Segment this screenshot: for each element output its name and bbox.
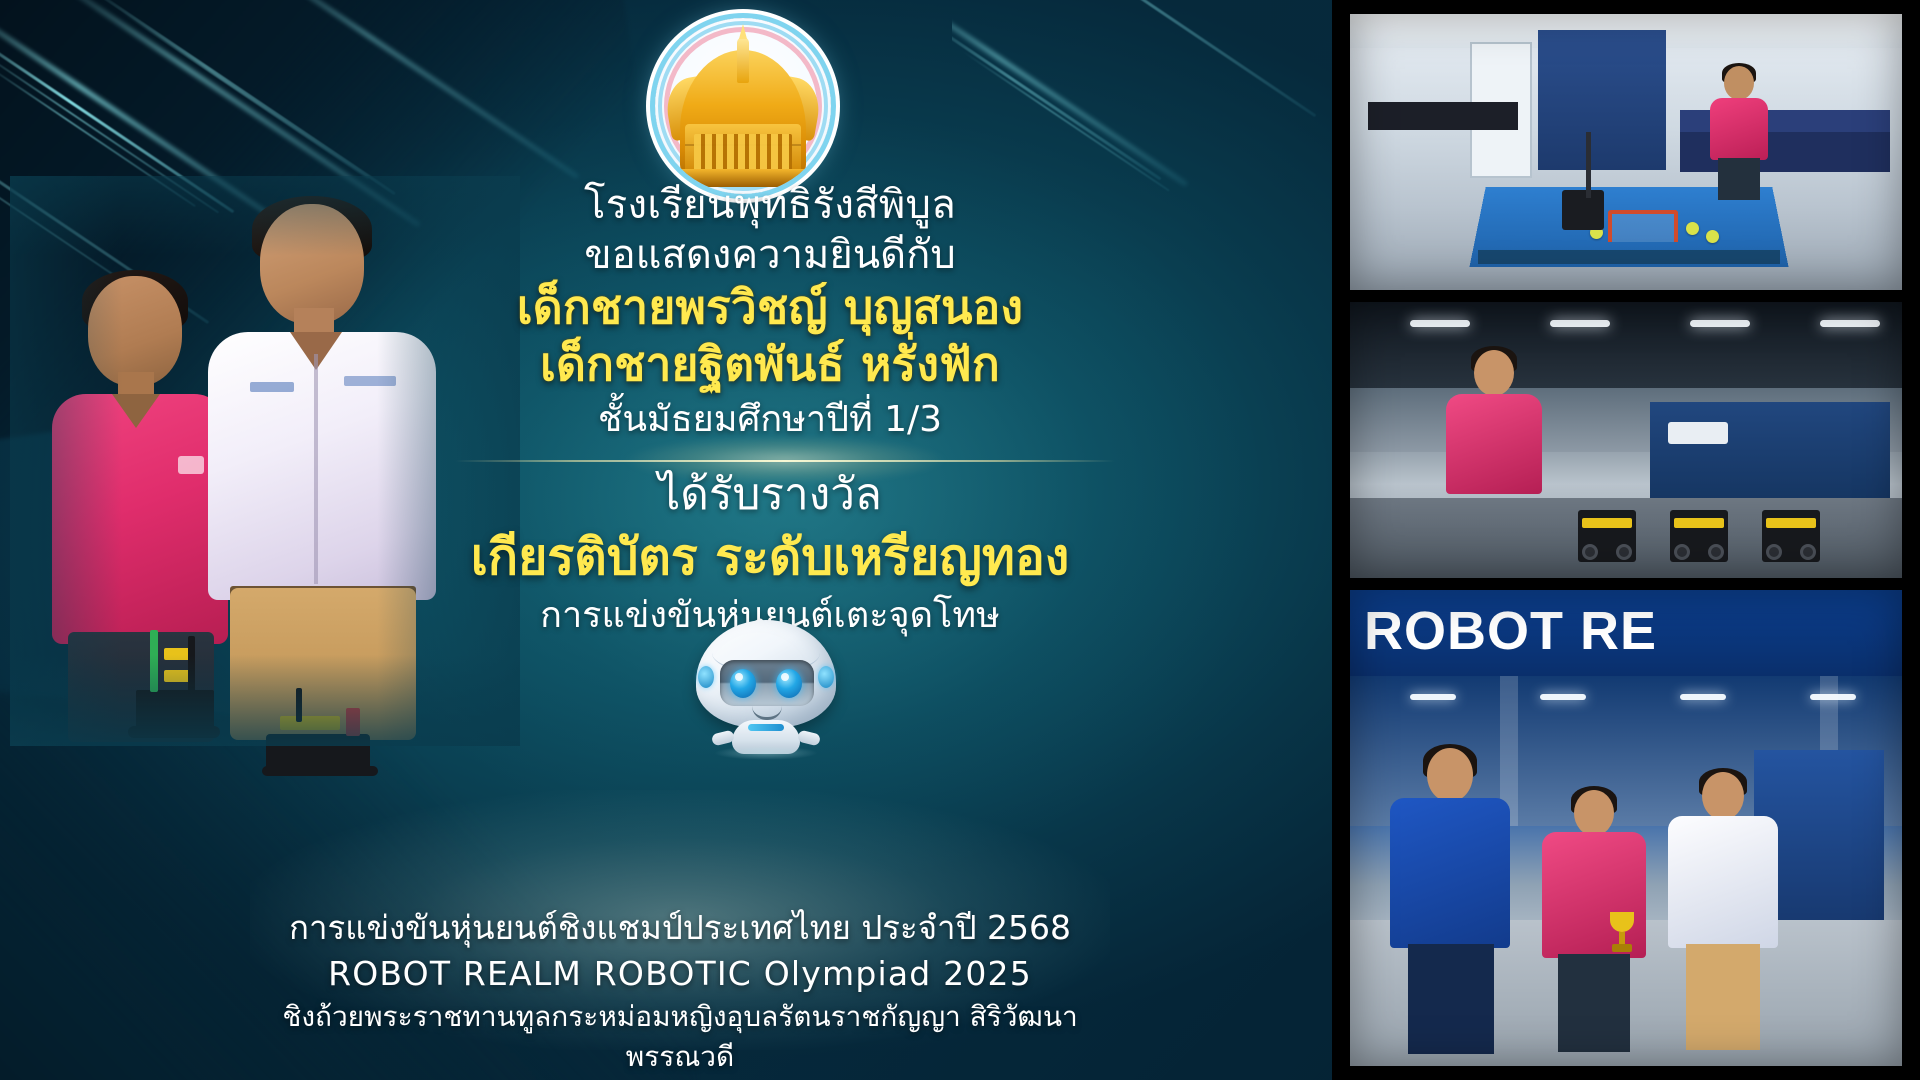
head (260, 204, 364, 324)
trousers (1408, 944, 1494, 1054)
robot-collar (748, 724, 784, 731)
competition-robot (1562, 190, 1604, 230)
shirt-placket (314, 354, 318, 584)
trophy-stem (1619, 932, 1625, 944)
trophy-cup (1610, 912, 1634, 932)
booth-sign (1668, 422, 1728, 444)
student-competitor (1702, 66, 1774, 198)
ball (1686, 222, 1699, 235)
head (1702, 772, 1744, 820)
goal-frame (1608, 210, 1678, 242)
ceiling-light (1680, 694, 1726, 700)
award-lead: ได้รับรางวัล (420, 466, 1120, 523)
robot-on-table (1762, 510, 1820, 562)
photo-two-students-with-robots (30, 196, 480, 736)
congratulation-line: ขอแสดงความยินดีกับ (420, 231, 1120, 279)
ceiling-light (1820, 320, 1880, 327)
student-figure-2 (1668, 772, 1778, 1048)
ceiling-light (1550, 320, 1610, 327)
footer-line-1: การแข่งขันหุ่นยนต์ชิงแชมป์ประเทศไทย ประจ… (250, 905, 1110, 951)
name-tag-right (344, 376, 396, 386)
name-tag-left (250, 382, 294, 392)
white-uniform-shirt (1668, 816, 1778, 948)
emblem-spire (737, 37, 749, 83)
blue-polo-shirt (1390, 798, 1510, 948)
robot-wheel (1800, 544, 1816, 560)
sponsor-booth (1650, 402, 1890, 510)
robot-arm-right (797, 730, 821, 747)
footer-text-block: การแข่งขันหุ่นยนต์ชิงแชมป์ประเทศไทย ประจ… (250, 905, 1110, 1077)
student-name-1: เด็กชายพรวิชญ์ บุญสนอง (420, 279, 1120, 336)
pants (1718, 158, 1760, 200)
congratulation-poster: โรงเรียนพุทธิรังสีพิบูล ขอแสดงความยินดีก… (0, 0, 1920, 1080)
photo-team-group: ROBOT RE (1350, 590, 1902, 1066)
footer-line-3: ชิงถ้วยพระราชทานทูลกระหม่อมหญิงอุบลรัตนร… (250, 997, 1110, 1077)
photo-pit-area (1350, 302, 1902, 578)
banner-background: โรงเรียนพุทธิรังสีพิบูล ขอแสดงความยินดีก… (0, 0, 1332, 1080)
khaki-trousers (1686, 944, 1760, 1050)
trophy-base (1612, 944, 1632, 952)
shirt-badge (178, 456, 204, 474)
head (1574, 790, 1614, 836)
held-robot-right (262, 688, 382, 788)
ceiling (1350, 302, 1902, 388)
robot-mascot-icon (668, 620, 864, 750)
robot-eye-right (776, 669, 802, 698)
arena-mat-edge (1478, 250, 1780, 264)
ceiling-light (1690, 320, 1750, 327)
robot-wheel (1674, 544, 1690, 560)
trophy-icon (1608, 912, 1636, 954)
school-name: โรงเรียนพุทธิรังสีพิบูล (420, 182, 1120, 229)
ceiling-light (1410, 694, 1456, 700)
robot-wheel (1582, 544, 1598, 560)
ceiling-light (1410, 320, 1470, 327)
robot-frame (1674, 518, 1724, 528)
pink-shirt (1710, 98, 1768, 160)
award-text-block: ได้รับรางวัล เกียรติบัตร ระดับเหรียญทอง … (420, 466, 1120, 640)
robot-frame (1766, 518, 1816, 528)
robot-ear-right (818, 666, 834, 688)
head (1724, 66, 1754, 100)
student-name-2: เด็กชายฐิตพันธ์ หรั่งฟัก (420, 336, 1120, 393)
held-robot-left (128, 626, 224, 746)
trousers (1558, 954, 1630, 1052)
photo-competition-arena (1350, 14, 1902, 290)
student-technician (1440, 350, 1550, 518)
photo-strip: ROBOT RE (1332, 0, 1920, 1080)
wall-banner (1368, 102, 1518, 130)
thai-royal-garuda-emblem-icon (655, 18, 831, 194)
controller-pole (1586, 132, 1591, 198)
award-title: เกียรติบัตร ระดับเหรียญทอง (420, 525, 1120, 590)
class-level: ชั้นมัธยมศึกษาปีที่ 1/3 (420, 397, 1120, 444)
head (1427, 748, 1473, 802)
robot-shadow (714, 746, 818, 760)
robot-on-table (1578, 510, 1636, 562)
head (1474, 350, 1514, 396)
robot-frame (1582, 518, 1632, 528)
wall-panel (1538, 30, 1666, 170)
robot-wheel (1766, 544, 1782, 560)
robot-eye-left (730, 669, 756, 698)
teacher-figure (1390, 748, 1510, 1048)
event-banner-text: ROBOT RE (1364, 600, 1657, 662)
white-uniform-shirt (208, 332, 436, 600)
head (88, 276, 182, 386)
student-right-figure (202, 204, 452, 736)
footer-line-2: ROBOT REALM ROBOTIC Olympiad 2025 (250, 951, 1110, 998)
ceiling-light (1540, 694, 1586, 700)
robot-on-table (1670, 510, 1728, 562)
ball (1706, 230, 1719, 243)
robot-wheel (1708, 544, 1724, 560)
robot-wheel (1616, 544, 1632, 560)
pink-shirt (1446, 394, 1542, 494)
robot-ear-left (698, 666, 714, 688)
header-text-block: โรงเรียนพุทธิรังสีพิบูล ขอแสดงความยินดีก… (420, 182, 1120, 444)
